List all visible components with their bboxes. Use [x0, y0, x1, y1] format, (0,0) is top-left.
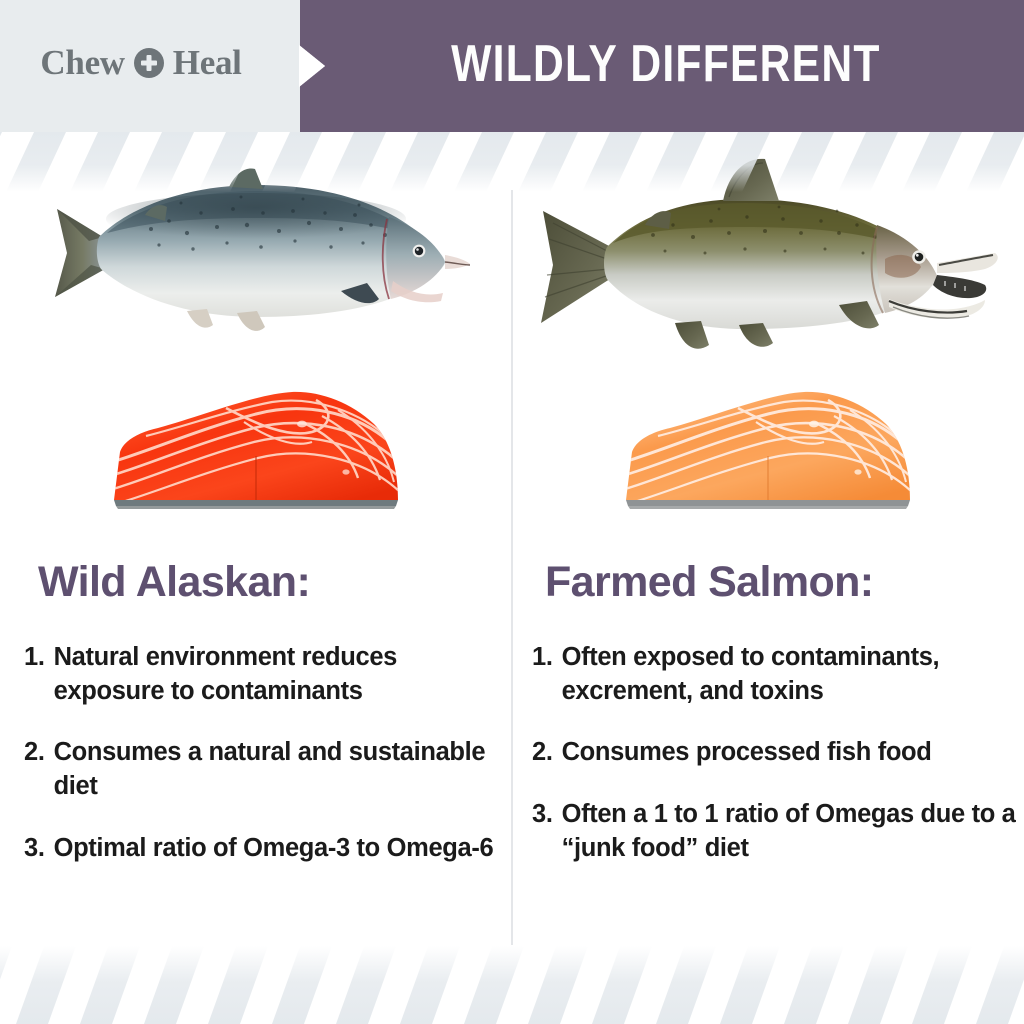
list-item-number: 2.: [24, 736, 45, 770]
column-heading-farmed: Farmed Salmon:: [512, 558, 1024, 607]
list-item-text: Consumes a natural and sustainable diet: [54, 736, 512, 803]
points-list-farmed: 1. Often exposed to contaminants, excrem…: [512, 641, 1024, 865]
chevron-notch-shape: [299, 0, 331, 132]
brand-logo-panel[interactable]: Chew Heal: [0, 0, 300, 132]
points-list-wild: 1. Natural environment reduces exposure …: [0, 641, 512, 865]
column-divider: [511, 190, 513, 945]
list-item-text: Often exposed to contaminants, excrement…: [562, 641, 1024, 708]
wild-salmon-fillet-photo: [0, 360, 512, 510]
list-item-text: Consumes processed fish food: [562, 736, 932, 770]
list-item-number: 1.: [532, 641, 553, 675]
brand-logo: Chew Heal: [40, 43, 241, 83]
list-item-number: 1.: [24, 641, 45, 675]
farmed-salmon-fillet-photo: [512, 360, 1024, 510]
header-title-bar: WILDLY DIFFERENT: [300, 0, 1024, 132]
column-wild-alaskan: Wild Alaskan: 1. Natural environment red…: [0, 150, 512, 950]
list-item: 2. Consumes a natural and sustainable di…: [24, 736, 512, 803]
list-item-text: Often a 1 to 1 ratio of Omegas due to a …: [562, 798, 1024, 865]
list-item-number: 2.: [532, 736, 553, 770]
list-item-number: 3.: [24, 832, 45, 866]
list-item-number: 3.: [532, 798, 553, 832]
list-item: 1. Natural environment reduces exposure …: [24, 641, 512, 708]
top-stripe-decoration: [0, 132, 1024, 196]
list-item: 3. Often a 1 to 1 ratio of Omegas due to…: [532, 798, 1024, 865]
page-title: WILDLY DIFFERENT: [451, 34, 881, 94]
bottom-stripe-decoration: [0, 946, 1024, 1024]
column-heading-wild: Wild Alaskan:: [0, 558, 512, 607]
plus-icon: [134, 48, 164, 78]
list-item: 1. Often exposed to contaminants, excrem…: [532, 641, 1024, 708]
list-item-text: Optimal ratio of Omega-3 to Omega-6: [54, 832, 494, 866]
logo-word-chew: Chew: [40, 43, 124, 83]
list-item-text: Natural environment reduces exposure to …: [54, 641, 512, 708]
column-farmed-salmon: Farmed Salmon: 1. Often exposed to conta…: [512, 150, 1024, 950]
page-header: Chew Heal WILDLY DIFFERENT: [0, 0, 1024, 132]
list-item: 3. Optimal ratio of Omega-3 to Omega-6: [24, 832, 512, 866]
logo-word-heal: Heal: [173, 43, 242, 83]
list-item: 2. Consumes processed fish food: [532, 736, 1024, 770]
